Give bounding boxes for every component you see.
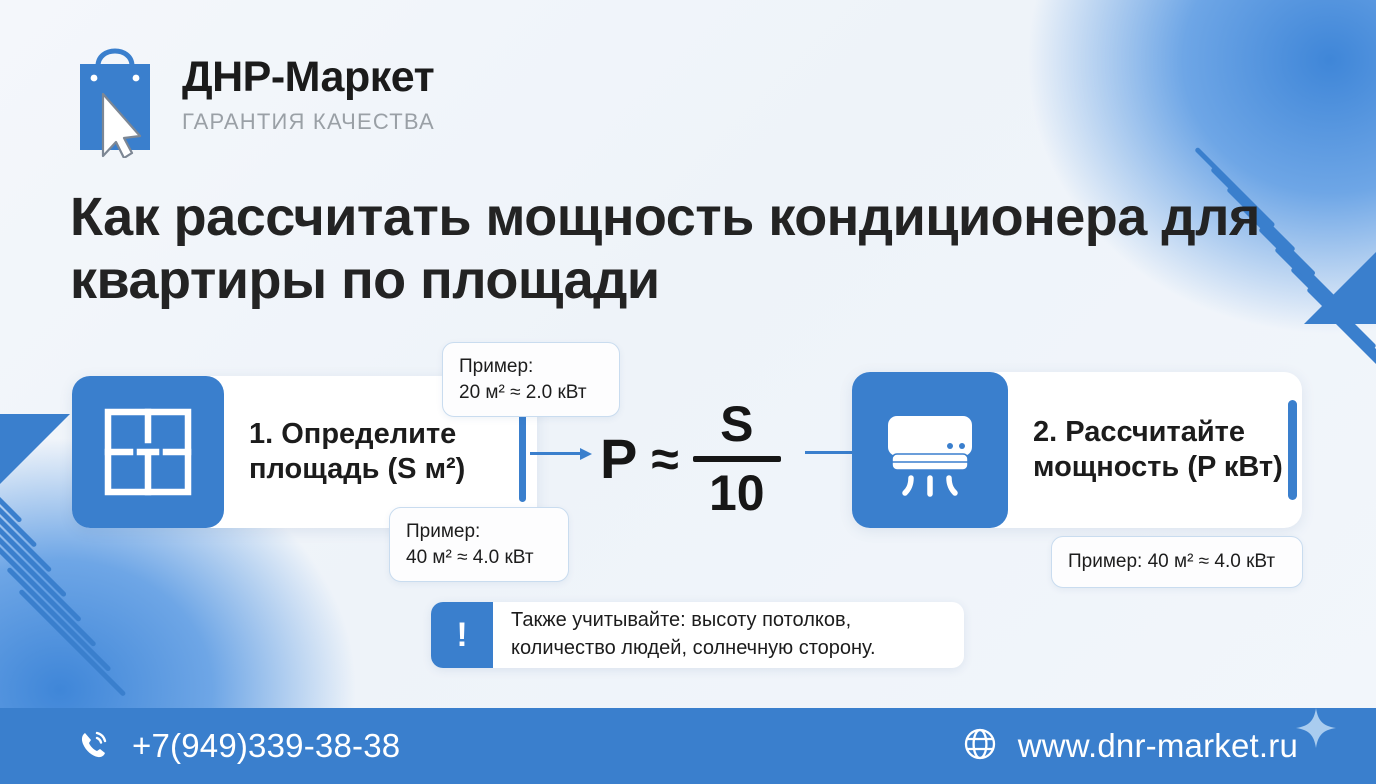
exclamation-icon: ! (431, 602, 493, 668)
note-line-1: Также учитывайте: высоту потолков, (511, 607, 876, 635)
brand-name: ДНР-Маркет (182, 56, 435, 99)
globe-icon (962, 726, 998, 767)
formula-to-step-2-connector (805, 451, 857, 454)
decorative-triangle-bottom-left (0, 414, 70, 484)
page-title: Как рассчитать мощность кондиционера для… (70, 186, 1320, 311)
infographic-canvas: ДНР-Маркет ГАРАНТИЯ КАЧЕСТВА Как рассчит… (0, 0, 1376, 784)
example-bubble-result: Пример: 40 м² ≈ 4.0 кВт (1051, 536, 1303, 588)
example-value: 40 м² ≈ 4.0 кВт (406, 545, 552, 571)
note-text: Также учитывайте: высоту потолков, колич… (493, 607, 876, 662)
example-bubble-40: Пример: 40 м² ≈ 4.0 кВт (389, 507, 569, 582)
air-conditioner-icon (852, 372, 1008, 528)
example-bubble-20: Пример: 20 м² ≈ 2.0 кВт (442, 342, 620, 417)
formula-numerator: S (720, 398, 753, 451)
footer-website[interactable]: www.dnr-market.ru (962, 726, 1298, 767)
brand-tagline: ГАРАНТИЯ КАЧЕСТВА (182, 111, 435, 133)
footer-website-label: www.dnr-market.ru (1018, 727, 1298, 765)
footer-phone[interactable]: +7(949)339-38-38 (76, 726, 400, 767)
footer-phone-label: +7(949)339-38-38 (132, 727, 400, 765)
note-card: ! Также учитывайте: высоту потолков, кол… (431, 602, 964, 668)
example-value: 20 м² ≈ 2.0 кВт (459, 380, 603, 406)
formula-variable: P (600, 431, 637, 487)
note-line-2: количество людей, солнечную сторону. (511, 635, 876, 663)
step-1-label: 1. Определите площадь (S м²) (224, 417, 537, 487)
formula-fraction: S 10 (693, 398, 781, 519)
step-2-card: 2. Рассчитайте мощность (P кВт) (852, 372, 1302, 528)
floor-plan-icon (72, 376, 224, 528)
brand-logo: ДНР-Маркет ГАРАНТИЯ КАЧЕСТВА (72, 30, 435, 158)
example-title: Пример: (406, 519, 552, 545)
shopping-bag-cursor-icon (72, 30, 158, 158)
example-title: Пример: (459, 354, 603, 380)
fraction-bar (693, 456, 781, 462)
step-2-accent-bar (1288, 400, 1297, 500)
formula-relation: ≈ (651, 434, 678, 484)
sparkle-icon (1294, 706, 1338, 750)
brand-text: ДНР-Маркет ГАРАНТИЯ КАЧЕСТВА (182, 30, 435, 133)
step-2-label: 2. Рассчитайте мощность (P кВт) (1008, 415, 1302, 485)
formula: P ≈ S 10 (600, 398, 781, 519)
footer-bar: +7(949)339-38-38 www.dnr-market.ru (0, 708, 1376, 784)
arrow-right-icon (530, 448, 592, 458)
formula-denominator: 10 (709, 467, 765, 520)
phone-icon (76, 726, 112, 767)
